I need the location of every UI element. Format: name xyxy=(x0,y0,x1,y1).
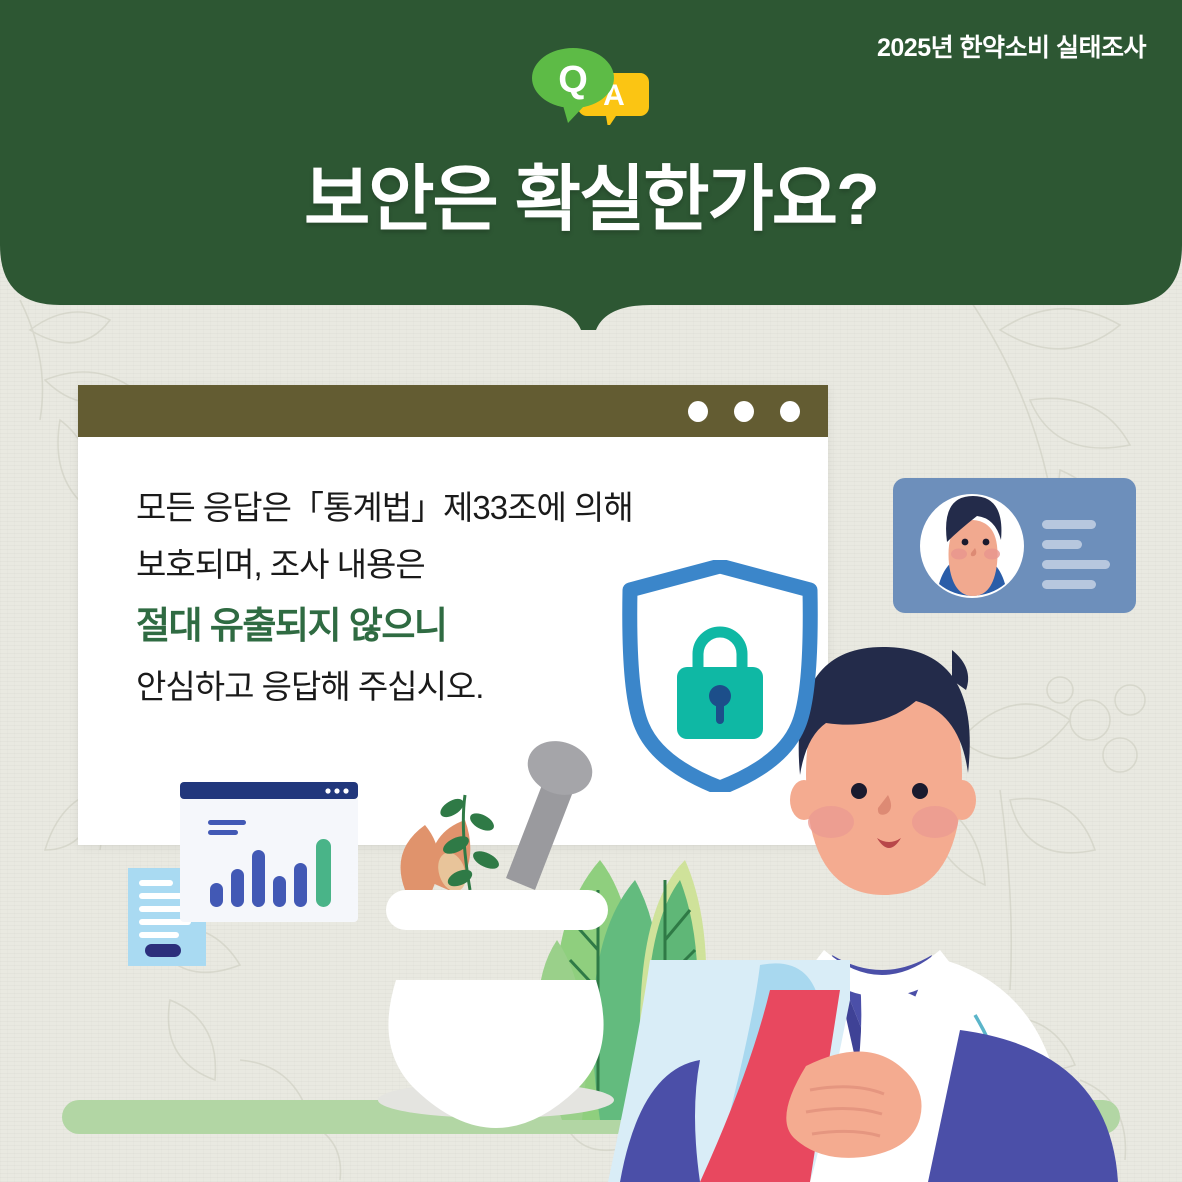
page-title: 보안은 확실한가요? xyxy=(0,140,1182,245)
chart-bar-4 xyxy=(273,876,286,907)
chart-bar-1 xyxy=(210,883,223,907)
window-dot-2[interactable] xyxy=(734,401,754,422)
id-card-icon xyxy=(893,478,1136,613)
chart-window-titlebar xyxy=(180,782,358,799)
shield-icon xyxy=(620,560,820,792)
clipboard-illustration xyxy=(608,960,1118,1182)
chart-bar-2 xyxy=(231,869,244,907)
notice-line-1: 모든 응답은「통계법」제33조에 의해 xyxy=(136,479,776,536)
lock-icon xyxy=(677,632,763,739)
bar-chart-window-icon xyxy=(180,782,358,922)
qa-logo-icon: A Q xyxy=(530,45,655,125)
hand-illustration xyxy=(786,1051,921,1157)
chart-bar-6 xyxy=(316,839,331,907)
window-dot-1[interactable] xyxy=(688,401,708,422)
document-button xyxy=(145,944,181,957)
question-letter: Q xyxy=(558,59,588,101)
window-titlebar xyxy=(78,385,828,437)
chart-bar-3 xyxy=(252,850,265,907)
window-dot-3[interactable] xyxy=(780,401,800,422)
chart-window-dots xyxy=(325,788,348,793)
chart-bar-5 xyxy=(294,863,307,907)
survey-year-label: 2025년 한약소비 실태조사 xyxy=(877,28,1146,64)
